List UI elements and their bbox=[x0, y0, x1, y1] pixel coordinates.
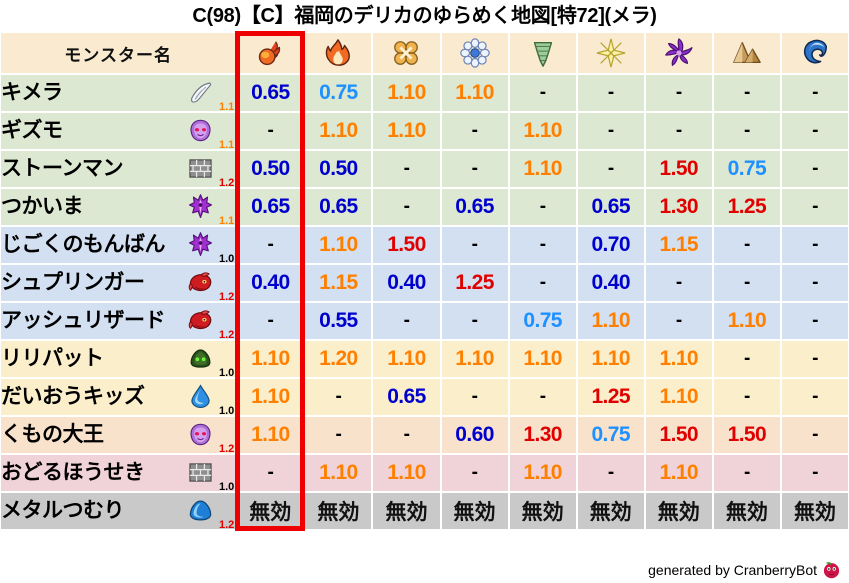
resistance-cell[interactable]: 1.25 bbox=[441, 264, 509, 302]
monster-name-cell[interactable]: くもの大王1.2 bbox=[0, 416, 236, 454]
resistance-cell[interactable]: 1.50 bbox=[372, 226, 440, 264]
resistance-cell[interactable]: - bbox=[781, 302, 849, 340]
resistance-cell[interactable]: 1.50 bbox=[713, 416, 781, 454]
resistance-cell[interactable]: - bbox=[577, 112, 645, 150]
brick-icon bbox=[188, 156, 213, 181]
resistance-cell[interactable]: 無効 bbox=[713, 492, 781, 530]
resistance-cell[interactable]: - bbox=[441, 454, 509, 492]
resistance-cell[interactable]: 0.75 bbox=[304, 74, 372, 112]
table-body: キメラ1.10.650.751.101.10-----ギズモ1.1-1.101.… bbox=[0, 74, 849, 530]
column-header-gira[interactable] bbox=[304, 32, 372, 74]
resistance-cell[interactable]: 1.30 bbox=[509, 416, 577, 454]
demon-icon bbox=[188, 194, 213, 219]
resistance-cell[interactable]: - bbox=[372, 150, 440, 188]
table-row[interactable]: ギズモ1.1-1.101.10-1.10---- bbox=[0, 112, 849, 150]
monster-name-label: だいおうキッズ bbox=[1, 386, 145, 407]
explosion-icon bbox=[373, 38, 439, 68]
resistance-cell[interactable]: - bbox=[713, 74, 781, 112]
page-title: C(98)【C】福岡のデリカのゆらめく地図[特72](メラ) bbox=[0, 0, 849, 32]
resistance-cell[interactable]: - bbox=[713, 226, 781, 264]
resistance-cell[interactable]: 0.65 bbox=[236, 74, 304, 112]
monster-name-label: メタルつむり bbox=[1, 500, 124, 521]
monster-name-cell[interactable]: シュプリンガー1.2 bbox=[0, 264, 236, 302]
resistance-cell[interactable]: - bbox=[441, 226, 509, 264]
resistance-cell[interactable]: - bbox=[713, 454, 781, 492]
resistance-cell[interactable]: 1.10 bbox=[577, 340, 645, 378]
resistance-cell[interactable]: 無効 bbox=[441, 492, 509, 530]
resistance-cell[interactable]: 1.10 bbox=[304, 112, 372, 150]
resistance-cell[interactable]: - bbox=[236, 454, 304, 492]
slimeg-icon bbox=[188, 346, 213, 371]
resistance-cell[interactable]: - bbox=[781, 112, 849, 150]
table-row[interactable]: おどるほうせき1.0-1.101.10-1.10-1.10-- bbox=[0, 454, 849, 492]
resistance-cell[interactable]: - bbox=[236, 226, 304, 264]
resistance-cell[interactable]: - bbox=[713, 264, 781, 302]
resistance-cell[interactable]: 1.10 bbox=[645, 378, 713, 416]
column-header-dein[interactable] bbox=[577, 32, 645, 74]
monster-name-cell[interactable]: アッシュリザード1.2 bbox=[0, 302, 236, 340]
resistance-cell[interactable]: 1.25 bbox=[713, 188, 781, 226]
resistance-cell[interactable]: - bbox=[372, 302, 440, 340]
table-row[interactable]: じごくのもんばん1.0-1.101.50--0.701.15-- bbox=[0, 226, 849, 264]
resistance-cell[interactable]: 0.75 bbox=[713, 150, 781, 188]
resistance-cell[interactable]: 1.10 bbox=[509, 112, 577, 150]
table-row[interactable]: くもの大王1.21.10--0.601.300.751.501.50- bbox=[0, 416, 849, 454]
resistance-cell[interactable]: 無効 bbox=[372, 492, 440, 530]
resistance-cell[interactable]: 0.65 bbox=[236, 188, 304, 226]
resistance-cell[interactable]: 1.10 bbox=[713, 302, 781, 340]
resistance-cell[interactable]: 0.75 bbox=[577, 416, 645, 454]
resistance-cell[interactable]: - bbox=[781, 150, 849, 188]
table-row[interactable]: メタルつむり1.2無効無効無効無効無効無効無効無効無効 bbox=[0, 492, 849, 530]
fireball-icon bbox=[237, 38, 303, 68]
resistance-cell[interactable]: - bbox=[509, 264, 577, 302]
resistance-grid: モンスター名 bbox=[0, 32, 849, 530]
column-header-bagi[interactable] bbox=[509, 32, 577, 74]
resistance-cell[interactable]: - bbox=[781, 416, 849, 454]
monster-name-column-header: モンスター名 bbox=[0, 32, 236, 74]
resistance-cell[interactable]: - bbox=[781, 226, 849, 264]
resistance-cell[interactable]: - bbox=[645, 302, 713, 340]
resistance-cell[interactable]: 0.40 bbox=[236, 264, 304, 302]
resistance-cell[interactable]: - bbox=[781, 188, 849, 226]
monster-name-cell[interactable]: おどるほうせき1.0 bbox=[0, 454, 236, 492]
monster-name-cell[interactable]: じごくのもんばん1.0 bbox=[0, 226, 236, 264]
resistance-cell[interactable]: - bbox=[372, 416, 440, 454]
resistance-cell[interactable]: - bbox=[372, 188, 440, 226]
drop-icon bbox=[188, 384, 213, 409]
resistance-cell[interactable]: - bbox=[304, 378, 372, 416]
resistance-cell[interactable]: 0.50 bbox=[236, 150, 304, 188]
cranberry-icon bbox=[822, 560, 841, 579]
resistance-cell[interactable]: - bbox=[781, 264, 849, 302]
table-row[interactable]: キメラ1.10.650.751.101.10----- bbox=[0, 74, 849, 112]
resistance-cell[interactable]: 1.10 bbox=[372, 454, 440, 492]
resistance-cell[interactable]: - bbox=[509, 74, 577, 112]
resistance-cell[interactable]: 0.40 bbox=[372, 264, 440, 302]
resistance-cell[interactable]: - bbox=[577, 74, 645, 112]
table-row[interactable]: だいおうキッズ1.01.10-0.65--1.251.10-- bbox=[0, 378, 849, 416]
column-header-hyado[interactable] bbox=[441, 32, 509, 74]
resistance-cell[interactable]: - bbox=[645, 112, 713, 150]
resistance-cell[interactable]: - bbox=[781, 378, 849, 416]
ghost-icon bbox=[188, 422, 213, 447]
resistance-cell[interactable]: 0.65 bbox=[372, 378, 440, 416]
resistance-cell[interactable]: 1.10 bbox=[372, 74, 440, 112]
resistance-cell[interactable]: 無効 bbox=[645, 492, 713, 530]
table-row[interactable]: リリパット1.01.101.201.101.101.101.101.10-- bbox=[0, 340, 849, 378]
resistance-cell[interactable]: 1.10 bbox=[372, 340, 440, 378]
resistance-cell[interactable]: 無効 bbox=[509, 492, 577, 530]
monster-name-label: リリパット bbox=[1, 348, 104, 369]
resistance-cell[interactable]: - bbox=[713, 340, 781, 378]
resistance-cell[interactable]: - bbox=[509, 188, 577, 226]
column-header-dorma[interactable] bbox=[645, 32, 713, 74]
table-header-row: モンスター名 bbox=[0, 32, 849, 74]
resistance-cell[interactable]: 1.10 bbox=[441, 74, 509, 112]
column-header-jibaria[interactable] bbox=[713, 32, 781, 74]
resistance-cell[interactable]: 無効 bbox=[577, 492, 645, 530]
resistance-cell[interactable]: 無効 bbox=[236, 492, 304, 530]
column-header-io[interactable] bbox=[372, 32, 440, 74]
slimeb-icon bbox=[188, 498, 213, 523]
resistance-cell[interactable]: - bbox=[577, 454, 645, 492]
monster-name-label: じごくのもんばん bbox=[1, 234, 165, 255]
footer-text: generated by CranberryBot bbox=[648, 562, 817, 578]
wing-icon bbox=[188, 80, 213, 105]
resistance-cell[interactable]: 1.50 bbox=[645, 150, 713, 188]
tornado-icon bbox=[510, 38, 576, 68]
resistance-cell[interactable]: 無効 bbox=[304, 492, 372, 530]
resistance-cell[interactable]: - bbox=[577, 150, 645, 188]
monster-name-label: つかいま bbox=[1, 196, 83, 217]
monster-name-cell[interactable]: メタルつむり1.2 bbox=[0, 492, 236, 530]
resistance-cell[interactable]: 無効 bbox=[781, 492, 849, 530]
resistance-cell[interactable]: - bbox=[509, 378, 577, 416]
resistance-cell[interactable]: 0.50 bbox=[304, 150, 372, 188]
resistance-cell[interactable]: 0.65 bbox=[441, 188, 509, 226]
table-row[interactable]: ストーンマン1.20.500.50--1.10-1.500.75- bbox=[0, 150, 849, 188]
monster-name-label: シュプリンガー bbox=[1, 272, 145, 293]
monster-name-cell[interactable]: ギズモ1.1 bbox=[0, 112, 236, 150]
demon-icon bbox=[188, 232, 213, 257]
damage-resistance-table-page: C(98)【C】福岡のデリカのゆらめく地図[特72](メラ) モンスター名 bbox=[0, 0, 849, 583]
monster-name-cell[interactable]: だいおうキッズ1.0 bbox=[0, 378, 236, 416]
monster-name-label: アッシュリザード bbox=[1, 310, 165, 331]
column-header-water[interactable] bbox=[781, 32, 849, 74]
resistance-cell[interactable]: - bbox=[509, 226, 577, 264]
resistance-cell[interactable]: - bbox=[713, 112, 781, 150]
resistance-cell[interactable]: 1.10 bbox=[645, 454, 713, 492]
monster-name-cell[interactable]: キメラ1.1 bbox=[0, 74, 236, 112]
monster-name-label: おどるほうせき bbox=[1, 462, 145, 483]
resistance-cell[interactable]: 1.10 bbox=[645, 340, 713, 378]
resistance-cell[interactable]: - bbox=[645, 74, 713, 112]
resistance-cell[interactable]: 0.65 bbox=[304, 188, 372, 226]
wave-icon bbox=[782, 38, 848, 68]
snowflake-icon bbox=[442, 38, 508, 68]
resistance-cell[interactable]: 1.10 bbox=[509, 340, 577, 378]
resistance-cell[interactable]: 1.15 bbox=[645, 226, 713, 264]
monster-name-label: くもの大王 bbox=[1, 424, 104, 445]
dragon-icon bbox=[188, 270, 213, 295]
resistance-cell[interactable]: 0.75 bbox=[509, 302, 577, 340]
resistance-cell[interactable]: - bbox=[781, 340, 849, 378]
resistance-cell[interactable]: - bbox=[441, 112, 509, 150]
resistance-cell[interactable]: 1.10 bbox=[236, 378, 304, 416]
resistance-cell[interactable]: - bbox=[781, 454, 849, 492]
resistance-cell[interactable]: 1.10 bbox=[304, 454, 372, 492]
resistance-cell[interactable]: 0.70 bbox=[577, 226, 645, 264]
resistance-cell[interactable]: 0.40 bbox=[577, 264, 645, 302]
resistance-cell[interactable]: - bbox=[441, 302, 509, 340]
resistance-cell[interactable]: - bbox=[236, 112, 304, 150]
resistance-cell[interactable]: 1.15 bbox=[304, 264, 372, 302]
resistance-cell[interactable]: 1.10 bbox=[509, 150, 577, 188]
monster-name-cell[interactable]: リリパット1.0 bbox=[0, 340, 236, 378]
resistance-cell[interactable]: - bbox=[304, 416, 372, 454]
resistance-cell[interactable]: 1.10 bbox=[236, 340, 304, 378]
flame-icon bbox=[305, 38, 371, 68]
table-row[interactable]: アッシュリザード1.2-0.55--0.751.10-1.10- bbox=[0, 302, 849, 340]
table-row[interactable]: つかいま1.10.650.65-0.65-0.651.301.25- bbox=[0, 188, 849, 226]
monster-name-label: ストーンマン bbox=[1, 158, 123, 179]
monster-name-label: ギズモ bbox=[1, 120, 63, 141]
resistance-cell[interactable]: 1.20 bbox=[304, 340, 372, 378]
resistance-cell[interactable]: - bbox=[645, 264, 713, 302]
resistance-cell[interactable]: - bbox=[713, 378, 781, 416]
resistance-cell[interactable]: 1.25 bbox=[577, 378, 645, 416]
resistance-cell[interactable]: 0.65 bbox=[577, 188, 645, 226]
resistance-cell[interactable]: 1.50 bbox=[645, 416, 713, 454]
sparkle-icon bbox=[578, 38, 644, 68]
dragon-icon bbox=[188, 308, 213, 333]
resistance-cell[interactable]: 0.60 bbox=[441, 416, 509, 454]
column-header-mera[interactable] bbox=[236, 32, 304, 74]
resistance-cell[interactable]: 0.55 bbox=[304, 302, 372, 340]
resistance-cell[interactable]: - bbox=[781, 74, 849, 112]
resistance-cell[interactable]: 1.10 bbox=[372, 112, 440, 150]
table-row[interactable]: シュプリンガー1.20.401.150.401.25-0.40--- bbox=[0, 264, 849, 302]
resistance-cell[interactable]: 1.30 bbox=[645, 188, 713, 226]
brick-icon bbox=[188, 460, 213, 485]
mountain-icon bbox=[714, 38, 780, 68]
resistance-cell[interactable]: 1.10 bbox=[441, 340, 509, 378]
resistance-cell[interactable]: 1.10 bbox=[304, 226, 372, 264]
resistance-cell[interactable]: - bbox=[441, 378, 509, 416]
monster-name-cell[interactable]: ストーンマン1.2 bbox=[0, 150, 236, 188]
monster-name-label: キメラ bbox=[1, 82, 63, 103]
resistance-cell[interactable]: - bbox=[236, 302, 304, 340]
resistance-cell[interactable]: - bbox=[441, 150, 509, 188]
darkstar-icon bbox=[646, 38, 712, 68]
ghost-icon bbox=[188, 118, 213, 143]
version-badge: 1.2 bbox=[219, 520, 234, 531]
resistance-cell[interactable]: 1.10 bbox=[509, 454, 577, 492]
resistance-cell[interactable]: 1.10 bbox=[577, 302, 645, 340]
resistance-cell[interactable]: 1.10 bbox=[236, 416, 304, 454]
footer-credit: generated by CranberryBot bbox=[648, 560, 841, 579]
monster-name-cell[interactable]: つかいま1.1 bbox=[0, 188, 236, 226]
